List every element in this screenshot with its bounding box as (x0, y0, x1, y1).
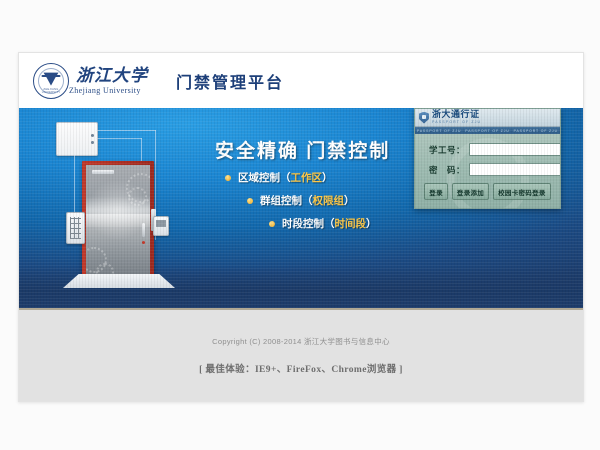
page-footer: Copyright (C) 2008-2014 浙江大学图书与信息中心 [ 最佳… (19, 310, 583, 401)
wire-top-b (96, 138, 142, 139)
page-title: 门禁管理平台 (176, 69, 284, 93)
browser-compatibility-note: [ 最佳体验：IE9+、FireFox、Chrome浏览器 ] (199, 361, 403, 375)
keypad-reader-icon (66, 212, 85, 244)
feature-label: 群组控制（ (260, 193, 313, 208)
door-handle-icon (142, 223, 145, 237)
wire-to-keypad (74, 154, 75, 212)
university-name-en: Zhejiang University (69, 86, 148, 95)
university-logo[interactable]: ZHEJIANG UNIVERSITY 浙江大学 Zhejiang Univer… (33, 63, 148, 99)
door-panel (86, 165, 150, 277)
feature-label: 时段控制（ (282, 216, 335, 231)
feature-item-area-control: 区域控制（工作区） (225, 170, 377, 185)
hero-banner: 安全精确 门禁控制 区域控制（工作区） 群组控制（权限组） 时段控制（时间段） … (19, 108, 583, 308)
feature-highlight: 工作区 (291, 170, 323, 185)
bullet-dot-icon (247, 198, 253, 204)
password-label: 密 码： (423, 164, 465, 176)
login-title-en: PASSPORT OF ZJU (432, 121, 481, 125)
password-input[interactable] (469, 163, 561, 176)
page-header: ZHEJIANG UNIVERSITY 浙江大学 Zhejiang Univer… (19, 53, 583, 108)
app-page: ZHEJIANG UNIVERSITY 浙江大学 Zhejiang Univer… (18, 52, 584, 402)
banner-slogan: 安全精确 门禁控制 (215, 136, 390, 163)
login-title-block: 浙大通行证 PASSPORT OF ZJU (432, 110, 481, 124)
feature-item-time-control: 时段控制（时间段） (269, 216, 377, 231)
gear-icon (128, 187, 147, 206)
login-form: 学工号： 密 码： 登录 登录添加 校园卡密码登录 (415, 134, 560, 208)
passport-strip-text: PASSPORT OF ZJU (417, 129, 461, 133)
seal-mark (44, 73, 59, 86)
bullet-dot-icon (225, 175, 231, 181)
zju-seal-icon: ZHEJIANG UNIVERSITY (33, 63, 69, 99)
field-password: 密 码： (423, 163, 552, 176)
door-closer-icon (92, 170, 114, 174)
card-reader-icon (153, 216, 169, 236)
door-highlight-band (86, 214, 150, 226)
passport-strip: PASSPORT OF ZJU PASSPORT OF ZJU PASSPORT… (415, 127, 560, 134)
login-add-button[interactable]: 登录添加 (452, 183, 489, 200)
university-name-block: 浙江大学 Zhejiang University (69, 67, 148, 95)
feature-suffix: ） (322, 170, 333, 185)
passport-strip-text: PASSPORT OF ZJU (514, 129, 558, 133)
copyright-text: Copyright (C) 2008-2014 浙江大学图书与信息中心 (212, 336, 390, 347)
bullet-dot-icon (269, 221, 275, 227)
lock-indicator-icon (142, 241, 145, 244)
feature-label: 区域控制（ (238, 170, 291, 185)
login-button-row: 登录 登录添加 校园卡密码登录 (423, 183, 552, 200)
login-title-cn: 浙大通行证 (432, 110, 481, 119)
door-controller-box-icon (56, 122, 98, 156)
login-button[interactable]: 登录 (424, 183, 448, 200)
feature-suffix: ） (366, 216, 377, 231)
login-panel-titlebar: 浙大通行证 PASSPORT OF ZJU (415, 109, 560, 127)
floor-plate (63, 274, 175, 288)
feature-highlight: 时间段 (335, 216, 367, 231)
campus-card-login-button[interactable]: 校园卡密码登录 (493, 183, 551, 200)
seal-ring-text: ZHEJIANG UNIVERSITY (34, 89, 68, 94)
feature-list: 区域控制（工作区） 群组控制（权限组） 时段控制（时间段） (225, 170, 377, 239)
university-name-cn: 浙江大学 (76, 67, 148, 84)
wire-top-a (96, 130, 156, 131)
passport-strip-text: PASSPORT OF ZJU (465, 129, 509, 133)
login-panel: 浙大通行证 PASSPORT OF ZJU PASSPORT OF ZJU PA… (414, 108, 561, 209)
shield-icon (419, 112, 429, 124)
student-id-label: 学工号： (423, 144, 465, 156)
access-control-illustration (49, 116, 189, 306)
student-id-input[interactable] (469, 143, 561, 156)
field-student-id: 学工号： (423, 143, 552, 156)
feature-suffix: ） (344, 193, 355, 208)
keypad-buttons (70, 217, 81, 239)
feature-item-group-control: 群组控制（权限组） (247, 193, 377, 208)
security-door-icon (82, 161, 154, 277)
feature-highlight: 权限组 (313, 193, 345, 208)
